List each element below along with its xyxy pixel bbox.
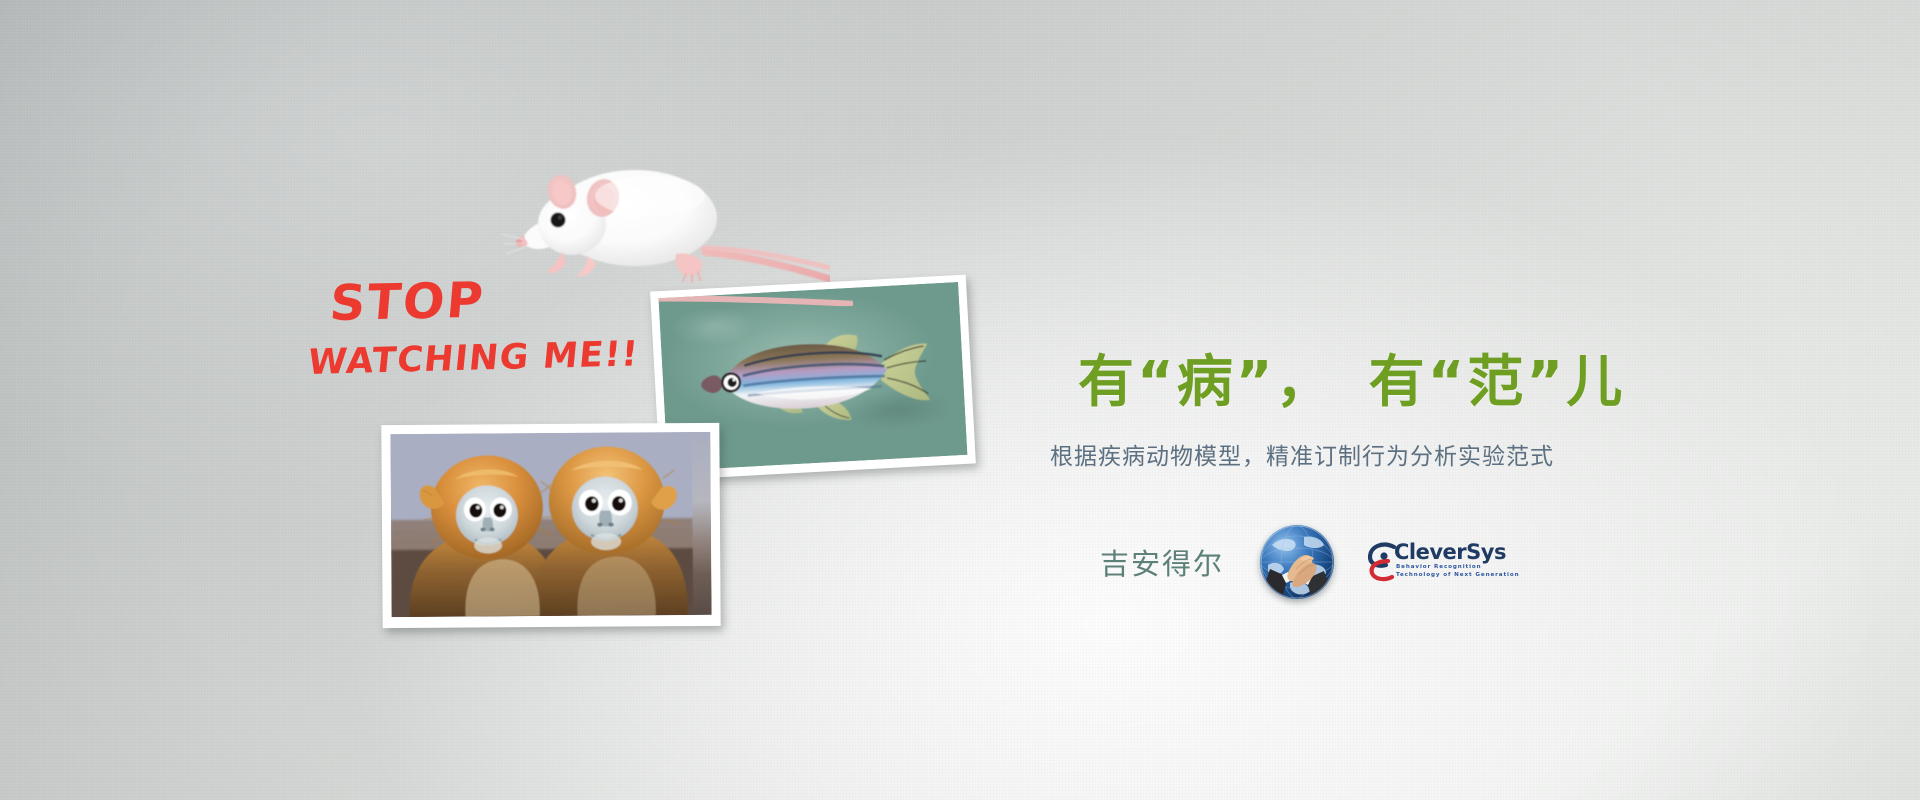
- headline: 有“病”，有“范”儿: [1078, 337, 1625, 418]
- partner-logo-row: 吉安得尔: [1100, 525, 1490, 599]
- subtitle: 根据疾病动物模型，精准订制行为分析实验范式: [1050, 437, 1554, 471]
- mouse-illustration: [500, 148, 830, 298]
- golden-monkey-photo: [390, 432, 711, 617]
- graffiti-watching-text: WATCHING ME!!: [306, 334, 641, 383]
- mouse-photo: [500, 148, 830, 298]
- banner-stage: STOP WATCHING ME!! 有“病”，有“范”儿 根据疾病动物模型，精…: [0, 0, 1920, 800]
- graffiti-stop-text: STOP: [328, 272, 487, 332]
- cleversys-tagline-line2: Technology of Next Generation: [1396, 572, 1520, 578]
- cleversys-wordmark: CleverSys: [1394, 540, 1506, 564]
- cleversys-logo: CleverSys Behavior Recognition Technolog…: [1370, 539, 1490, 585]
- globe-handshake-logo-icon: [1260, 525, 1334, 599]
- headline-part-1: 有“病”，: [1078, 350, 1335, 415]
- cleversys-tagline-line1: Behavior Recognition: [1396, 564, 1482, 570]
- headline-part-2: 有“范”儿: [1369, 350, 1626, 415]
- partner-company-name-cn: 吉安得尔: [1100, 541, 1224, 583]
- globe-handshake-icon: [1260, 525, 1334, 599]
- golden-monkey-photo-frame: [381, 423, 720, 628]
- golden-monkey-illustration: [390, 432, 693, 617]
